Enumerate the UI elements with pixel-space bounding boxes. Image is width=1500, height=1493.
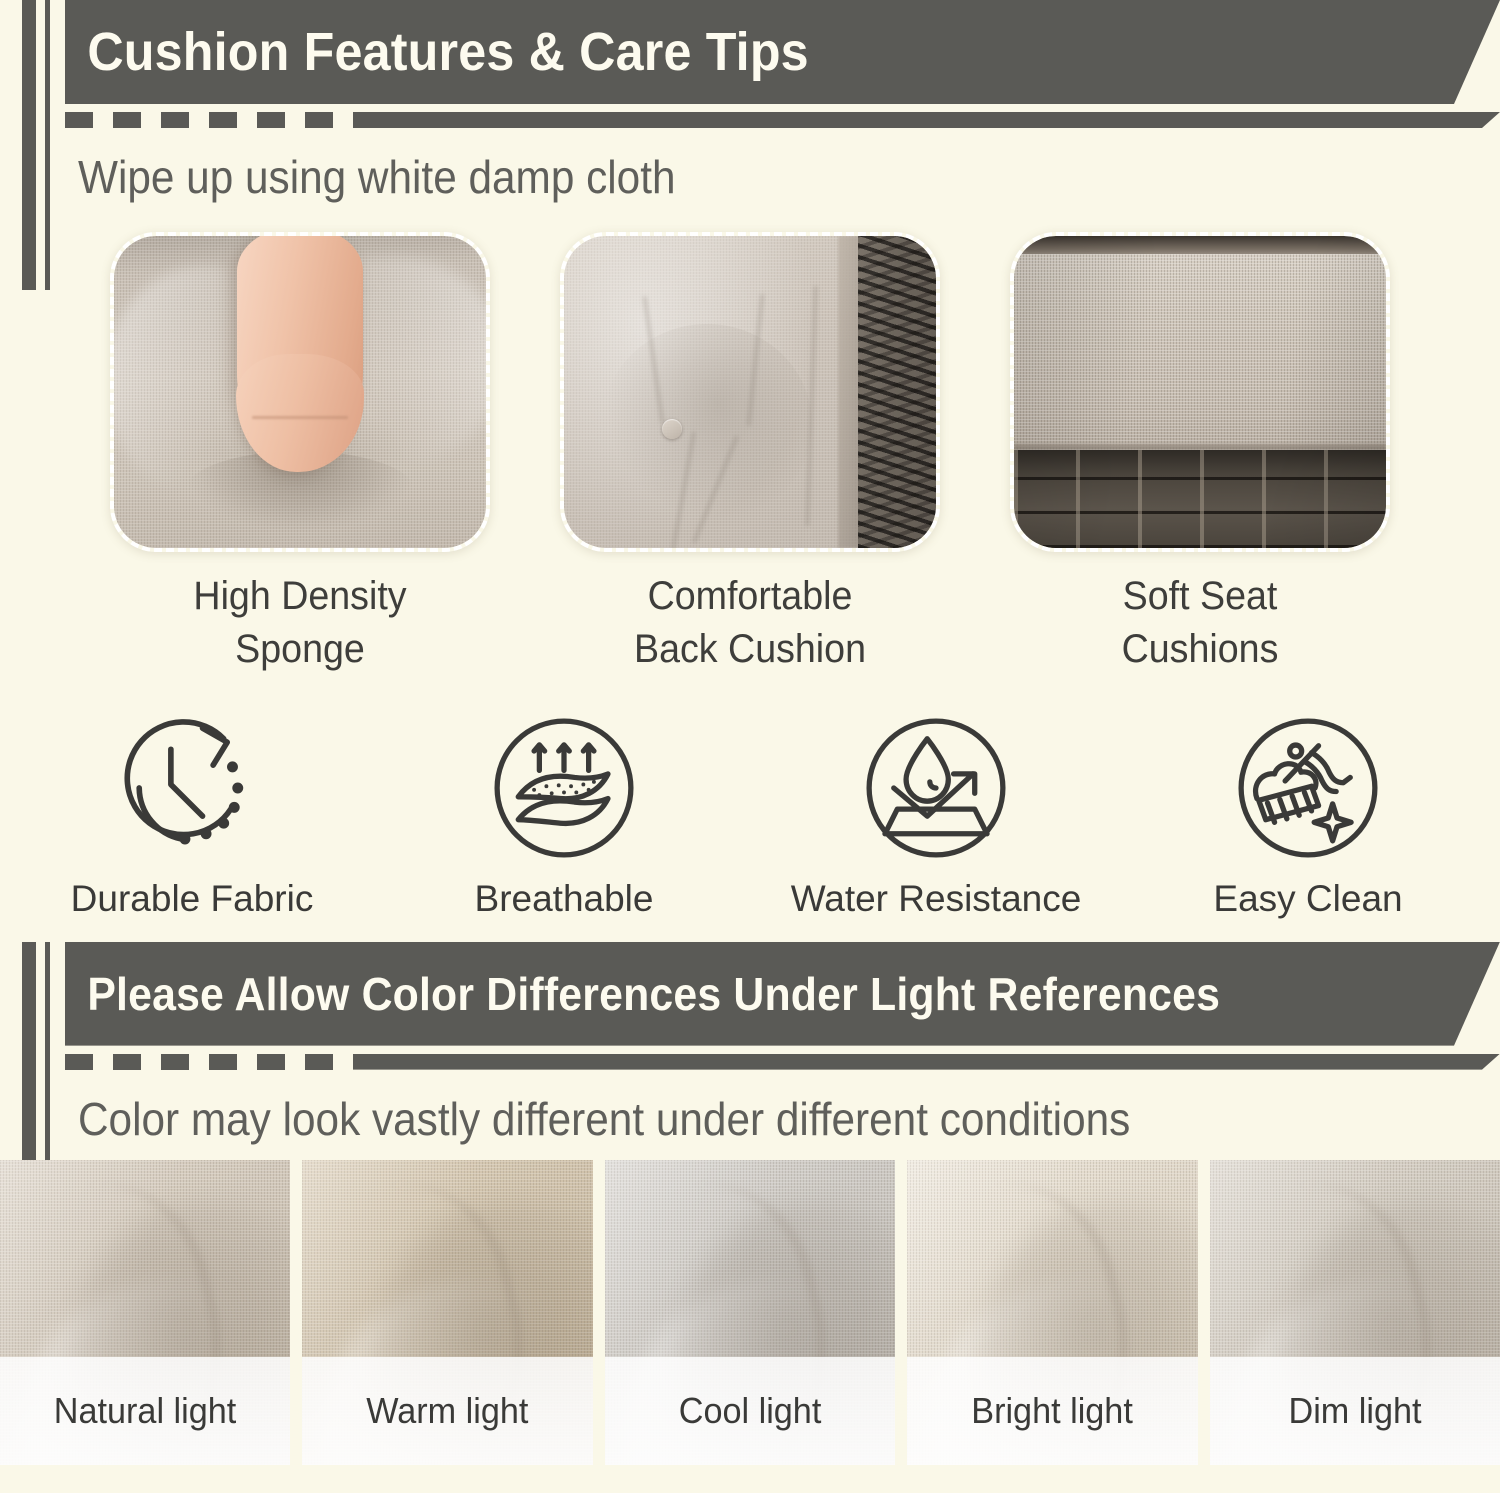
swatch-warm-light: Warm light <box>302 1160 592 1465</box>
color-differences-subtitle: Color may look vastly different under di… <box>78 1070 1386 1146</box>
feature-label-breathable: Breathable <box>389 876 739 920</box>
caption-line-2: Cushions <box>1021 623 1378 676</box>
swatch-cool-light: Cool light <box>605 1160 895 1465</box>
divider-dash <box>209 1054 237 1070</box>
comfortable-back-cushion-photo <box>560 232 940 552</box>
swatch-label-band: Warm light <box>302 1357 592 1465</box>
feature-label-easy-clean: Easy Clean <box>1133 876 1483 920</box>
clock-arrow-dots-icon <box>17 700 367 876</box>
water-droplet-bounce-icon <box>761 700 1111 876</box>
fabric-layers-up-arrows-icon <box>389 700 739 876</box>
divider-dash <box>209 112 237 128</box>
swatch-label-dim-light: Dim light <box>1288 1390 1421 1432</box>
care-photo-row: High Density Sponge <box>0 204 1500 676</box>
accent-bar-thin <box>45 0 50 290</box>
divider-dash <box>113 112 141 128</box>
photo-cell-comfortable-back-cushion: Comfortable Back Cushion <box>560 232 940 676</box>
divider-solid-bar <box>353 112 1500 128</box>
divider-dash <box>65 1054 93 1070</box>
care-tips-section: Cushion Features & Care Tips Wipe up usi… <box>0 0 1500 920</box>
photo-caption-soft-seat-cushions: Soft Seat Cushions <box>1021 552 1378 676</box>
swatch-label-bright-light: Bright light <box>972 1390 1134 1432</box>
feature-icon-row: Durable Fabric <box>0 676 1500 920</box>
brush-bubbles-sparkle-icon <box>1133 700 1483 876</box>
feature-water-resistance: Water Resistance <box>761 700 1111 920</box>
swatch-label-band: Cool light <box>605 1357 895 1465</box>
swatch-dim-light: Dim light <box>1210 1160 1500 1465</box>
divider-dash <box>257 112 285 128</box>
feature-label-water-resistance: Water Resistance <box>761 876 1111 920</box>
caption-line-2: Sponge <box>121 623 478 676</box>
caption-line-1: Comfortable <box>571 570 928 623</box>
divider-dash <box>305 1054 333 1070</box>
soft-seat-cushions-photo <box>1010 232 1390 552</box>
divider-solid-bar <box>353 1054 1500 1070</box>
color-differences-banner: Please Allow Color Differences Under Lig… <box>65 942 1500 1046</box>
feature-label-durable-fabric: Durable Fabric <box>17 876 367 920</box>
swatch-bright-light: Bright light <box>907 1160 1197 1465</box>
color-differences-banner-title: Please Allow Color Differences Under Lig… <box>65 967 1220 1021</box>
divider-dash <box>113 1054 141 1070</box>
swatch-label-warm-light: Warm light <box>367 1390 529 1432</box>
divider-dash <box>161 112 189 128</box>
caption-line-1: Soft Seat <box>1021 570 1378 623</box>
feature-easy-clean: Easy Clean <box>1133 700 1483 920</box>
care-tips-subtitle: Wipe up using white damp cloth <box>78 128 1386 204</box>
photo-cell-soft-seat-cushions: Soft Seat Cushions <box>1010 232 1390 676</box>
cushion-button <box>662 419 682 439</box>
color-differences-dashed-divider <box>65 1054 1500 1070</box>
divider-dash <box>65 112 93 128</box>
photo-caption-high-density-sponge: High Density Sponge <box>121 552 478 676</box>
color-differences-section: Please Allow Color Differences Under Lig… <box>0 920 1500 1465</box>
swatch-label-band: Dim light <box>1210 1357 1500 1465</box>
wicker-texture <box>858 236 936 548</box>
caption-line-1: High Density <box>121 570 478 623</box>
photo-caption-comfortable-back-cushion: Comfortable Back Cushion <box>571 552 928 676</box>
photo-cell-high-density-sponge: High Density Sponge <box>110 232 490 676</box>
feature-durable-fabric: Durable Fabric <box>17 700 367 920</box>
light-condition-swatch-strip: Natural light Warm light Cool light Br <box>0 1146 1500 1465</box>
swatch-label-band: Bright light <box>907 1357 1197 1465</box>
divider-dash <box>305 112 333 128</box>
care-tips-dashed-divider <box>65 112 1500 128</box>
high-density-sponge-photo <box>110 232 490 552</box>
feature-breathable: Breathable <box>389 700 739 920</box>
swatch-label-band: Natural light <box>0 1357 290 1465</box>
care-tips-banner: Cushion Features & Care Tips <box>65 0 1500 104</box>
divider-dash <box>257 1054 285 1070</box>
swatch-label-natural-light: Natural light <box>54 1390 236 1432</box>
left-accent-bars <box>22 0 60 290</box>
swatch-natural-light: Natural light <box>0 1160 290 1465</box>
care-tips-banner-title: Cushion Features & Care Tips <box>65 21 809 83</box>
accent-bar-thick <box>22 0 36 290</box>
caption-line-2: Back Cushion <box>571 623 928 676</box>
swatch-label-cool-light: Cool light <box>679 1390 822 1432</box>
divider-dash <box>161 1054 189 1070</box>
